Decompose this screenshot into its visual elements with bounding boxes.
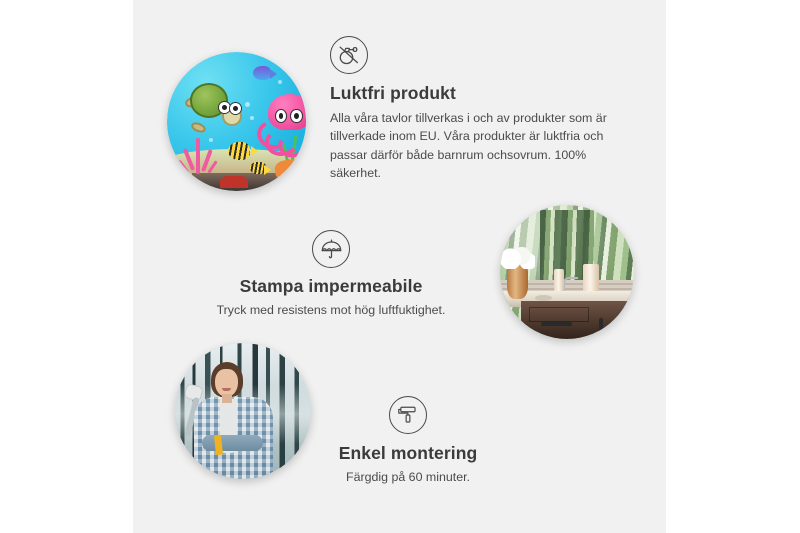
product-photo-bathroom: [500, 205, 634, 339]
paint-roller-icon: [389, 396, 427, 434]
angelfish-small-icon: [250, 162, 265, 175]
paint-tool-icon: [214, 434, 223, 455]
product-photo-aquarium: [167, 52, 306, 191]
sea-rock-red: [220, 176, 248, 189]
feature-title: Luktfri produkt: [330, 83, 620, 104]
feature-description: Färgdig på 60 minuter.: [300, 468, 516, 486]
feature-assembly: Enkel montering Färgdig på 60 minuter.: [300, 396, 516, 486]
feature-waterproof: Stampa impermeabile Tryck med resistens …: [200, 230, 462, 319]
sea-turtle-icon: [185, 80, 243, 129]
product-photo-painter: [175, 343, 311, 479]
feature-title: Stampa impermeabile: [200, 276, 462, 297]
angelfish-icon: [228, 142, 250, 160]
coral-icon: [181, 133, 217, 175]
blue-fish-icon: [253, 66, 271, 80]
feature-description: Alla våra tavlor tillverkas i och av pro…: [330, 109, 610, 182]
feature-title: Enkel montering: [300, 443, 516, 464]
bubble-icon: [245, 102, 250, 107]
flowers-icon: [500, 247, 535, 270]
bubble-icon: [278, 80, 282, 84]
woman-with-roller: [194, 362, 273, 479]
no-odour-spray-bottle-icon: [330, 36, 368, 74]
feature-odourless: Luktfri produkt Alla våra tavlor tillver…: [330, 36, 620, 182]
infographic-stage: Luktfri produkt Alla våra tavlor tillver…: [0, 0, 800, 533]
bottle-icon: [554, 269, 565, 293]
octopus-icon: [256, 94, 306, 152]
feature-description: Tryck med resistens mot hög luftfuktighe…: [200, 301, 462, 319]
vanity-cabinet: [521, 301, 634, 339]
umbrella-icon: [312, 230, 350, 268]
